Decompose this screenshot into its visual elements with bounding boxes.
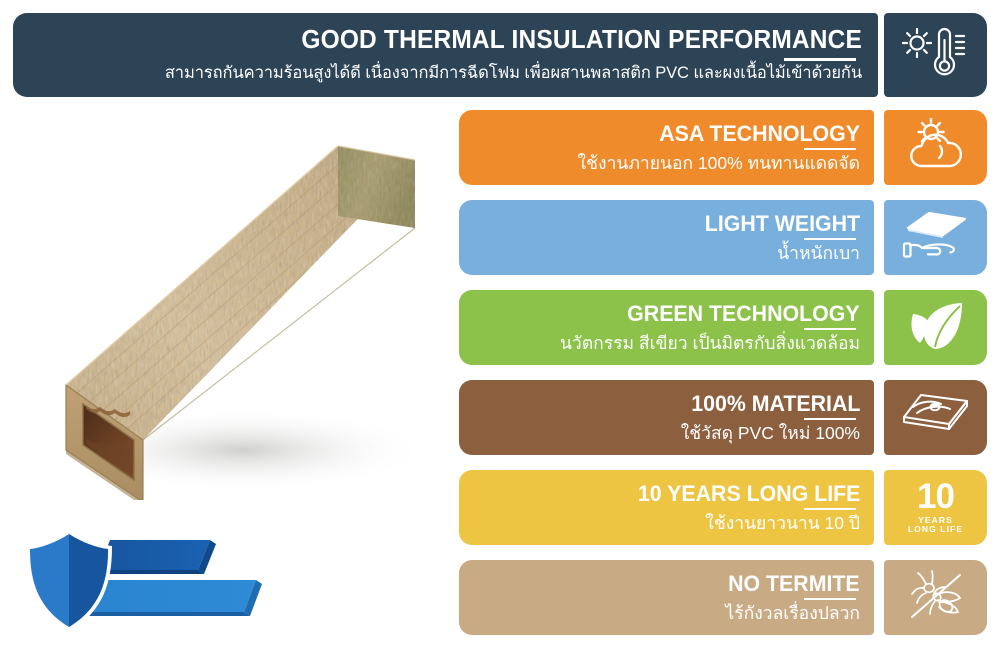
feature-icon-panel (884, 290, 987, 365)
feature-subtitle: ใช้งานภายนอก 100% ทนทานแดดจัด (578, 153, 860, 173)
header-banner: GOOD THERMAL INSULATION PERFORMANCE สามา… (13, 13, 987, 97)
sun-thermometer-icon (900, 24, 972, 87)
feature-row-light-weight[interactable]: LIGHT WEIGHT น้ำหนักเบา (459, 200, 987, 275)
hand-holding-panel-icon (901, 209, 971, 266)
feature-row-green-technology[interactable]: GREEN TECHNOLOGY นวัตกรรม สีเขียว เป็นมิ… (459, 290, 987, 365)
two-leaves-icon (905, 298, 967, 357)
product-image-wpc-board (28, 120, 448, 500)
feature-text-panel: NO TERMITE ไร้กังวลเรื่องปลวก (459, 560, 874, 635)
feature-title: 10 YEARS LONG LIFE (637, 482, 860, 505)
feature-row-no-termite[interactable]: NO TERMITE ไร้กังวลเรื่องปลวก (459, 560, 987, 635)
header-text-panel: GOOD THERMAL INSULATION PERFORMANCE สามา… (13, 13, 878, 97)
infographic-page: GOOD THERMAL INSULATION PERFORMANCE สามา… (0, 0, 1000, 660)
badge-number: 10 (917, 481, 954, 513)
feature-title-underline (804, 418, 856, 421)
feature-icon-panel (884, 110, 987, 185)
header-subtitle: สามารถกันความร้อนสูงได้ดี เนื่องจากมีการ… (165, 64, 862, 83)
feature-icon-panel (884, 200, 987, 275)
shield-planks-logo (18, 518, 318, 648)
header-icon-panel (884, 13, 987, 97)
feature-text-panel: 10 YEARS LONG LIFE ใช้งานยาวนาน 10 ปี (459, 470, 874, 545)
wood-plank-icon (901, 390, 971, 445)
feature-title-underline (804, 508, 856, 511)
feature-icon-panel: 10 YEARS LONG LIFE (884, 470, 987, 545)
feature-subtitle: ใช้วัสดุ PVC ใหม่ 100% (681, 423, 860, 443)
feature-title: NO TERMITE (728, 572, 860, 595)
feature-text-panel: ASA TECHNOLOGY ใช้งานภายนอก 100% ทนทานแด… (459, 110, 874, 185)
header-title-underline (784, 58, 856, 61)
feature-row-100-material[interactable]: 100% MATERIAL ใช้วัสดุ PVC ใหม่ 100% (459, 380, 987, 455)
feature-row-10-years-long-life[interactable]: 10 YEARS LONG LIFE ใช้งานยาวนาน 10 ปี 10… (459, 470, 987, 545)
feature-subtitle: ใช้งานยาวนาน 10 ปี (705, 513, 860, 533)
feature-title: GREEN TECHNOLOGY (628, 302, 860, 325)
badge-line-2: LONG LIFE (908, 525, 963, 534)
feature-subtitle: น้ำหนักเบา (777, 243, 860, 263)
feature-title: ASA TECHNOLOGY (659, 122, 860, 145)
feature-title-underline (804, 238, 856, 241)
sun-cloud-icon (903, 118, 969, 177)
feature-title: 100% MATERIAL (691, 392, 860, 415)
feature-text-panel: LIGHT WEIGHT น้ำหนักเบา (459, 200, 874, 275)
feature-text-panel: GREEN TECHNOLOGY นวัตกรรม สีเขียว เป็นมิ… (459, 290, 874, 365)
feature-icon-panel (884, 380, 987, 455)
feature-row-asa-technology[interactable]: ASA TECHNOLOGY ใช้งานภายนอก 100% ทนทานแด… (459, 110, 987, 185)
no-termite-icon (906, 568, 966, 627)
feature-title-underline (804, 148, 856, 151)
badge-line-1: YEARS (918, 516, 953, 525)
feature-subtitle: ไร้กังวลเรื่องปลวก (725, 603, 860, 623)
ten-years-badge-icon: 10 YEARS LONG LIFE (908, 481, 963, 533)
feature-icon-panel (884, 560, 987, 635)
feature-list: ASA TECHNOLOGY ใช้งานภายนอก 100% ทนทานแด… (459, 110, 987, 635)
feature-title-underline (804, 328, 856, 331)
header-title: GOOD THERMAL INSULATION PERFORMANCE (301, 27, 862, 54)
feature-subtitle: นวัตกรรม สีเขียว เป็นมิตรกับสิ่งแวดล้อม (560, 333, 860, 353)
feature-title: LIGHT WEIGHT (705, 212, 860, 235)
feature-title-underline (804, 598, 856, 601)
feature-text-panel: 100% MATERIAL ใช้วัสดุ PVC ใหม่ 100% (459, 380, 874, 455)
